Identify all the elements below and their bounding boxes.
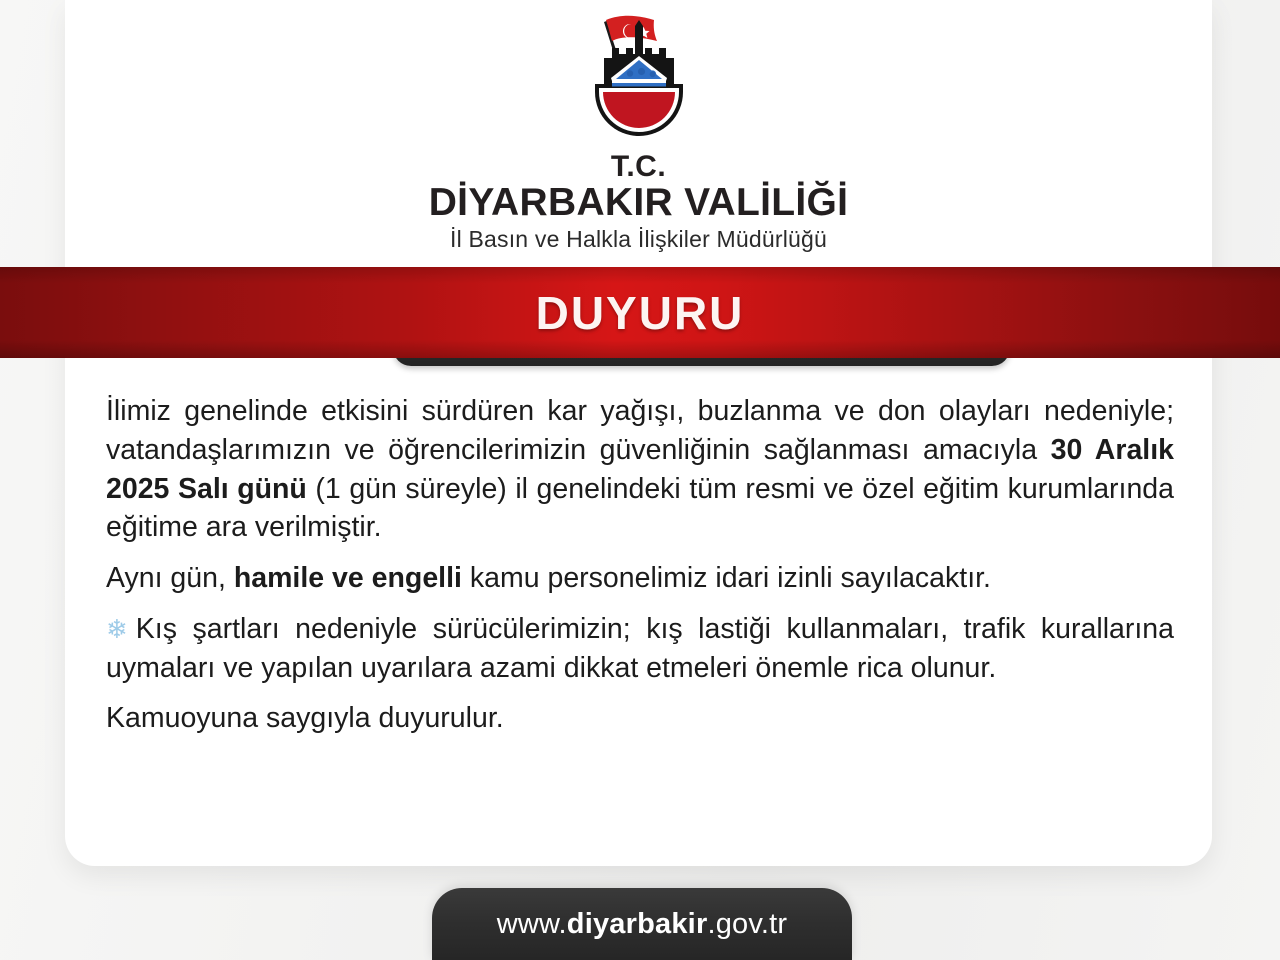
p3-text: Kış şartları nedeniyle sürücülerimizin; … [106, 613, 1174, 684]
footer-url-pill[interactable]: www.diyarbakir.gov.tr [432, 888, 852, 960]
paragraph-administrative-leave: Aynı gün, hamile ve engelli kamu persone… [106, 559, 1174, 598]
p2-after-bold: kamu personelimiz idari izinli sayılacak… [462, 562, 991, 594]
org-name-tc: T.C. [611, 152, 666, 182]
p4-text: Kamuoyuna saygıyla duyurulur. [106, 702, 504, 734]
p1-before-bold: İlimiz genelinde etkisini sürdüren kar y… [106, 395, 1174, 466]
url-brand: diyarbakir [567, 908, 708, 940]
snowflake-icon: ❄ [106, 614, 128, 644]
paragraph-closing: Kamuoyuna saygıyla duyurulur. [106, 699, 1174, 738]
banner-title: DUYURU [536, 286, 745, 340]
paragraph-school-closure: İlimiz genelinde etkisini sürdüren kar y… [106, 392, 1174, 547]
p2-before-bold: Aynı gün, [106, 562, 234, 594]
paragraph-winter-driving: ❄Kış şartları nedeniyle sürücülerimizin;… [106, 610, 1174, 688]
url-suffix: .gov.tr [707, 908, 787, 940]
p2-bold-groups: hamile ve engelli [234, 562, 462, 594]
url-prefix: www. [497, 908, 567, 940]
announcement-body: İlimiz genelinde etkisini sürdüren kar y… [106, 392, 1174, 738]
footer-url[interactable]: www.diyarbakir.gov.tr [497, 908, 788, 941]
org-department: İl Basın ve Halkla İlişkiler Müdürlüğü [450, 226, 827, 254]
org-name-main: DİYARBAKIR VALİLİĞİ [429, 182, 849, 223]
diyarbakir-governorship-crest-icon [579, 10, 699, 150]
card-header: T.C. DİYARBAKIR VALİLİĞİ İl Basın ve Hal… [65, 0, 1212, 267]
duyuru-banner: DUYURU [0, 267, 1280, 358]
announcement-page: T.C. DİYARBAKIR VALİLİĞİ İl Basın ve Hal… [0, 0, 1280, 960]
